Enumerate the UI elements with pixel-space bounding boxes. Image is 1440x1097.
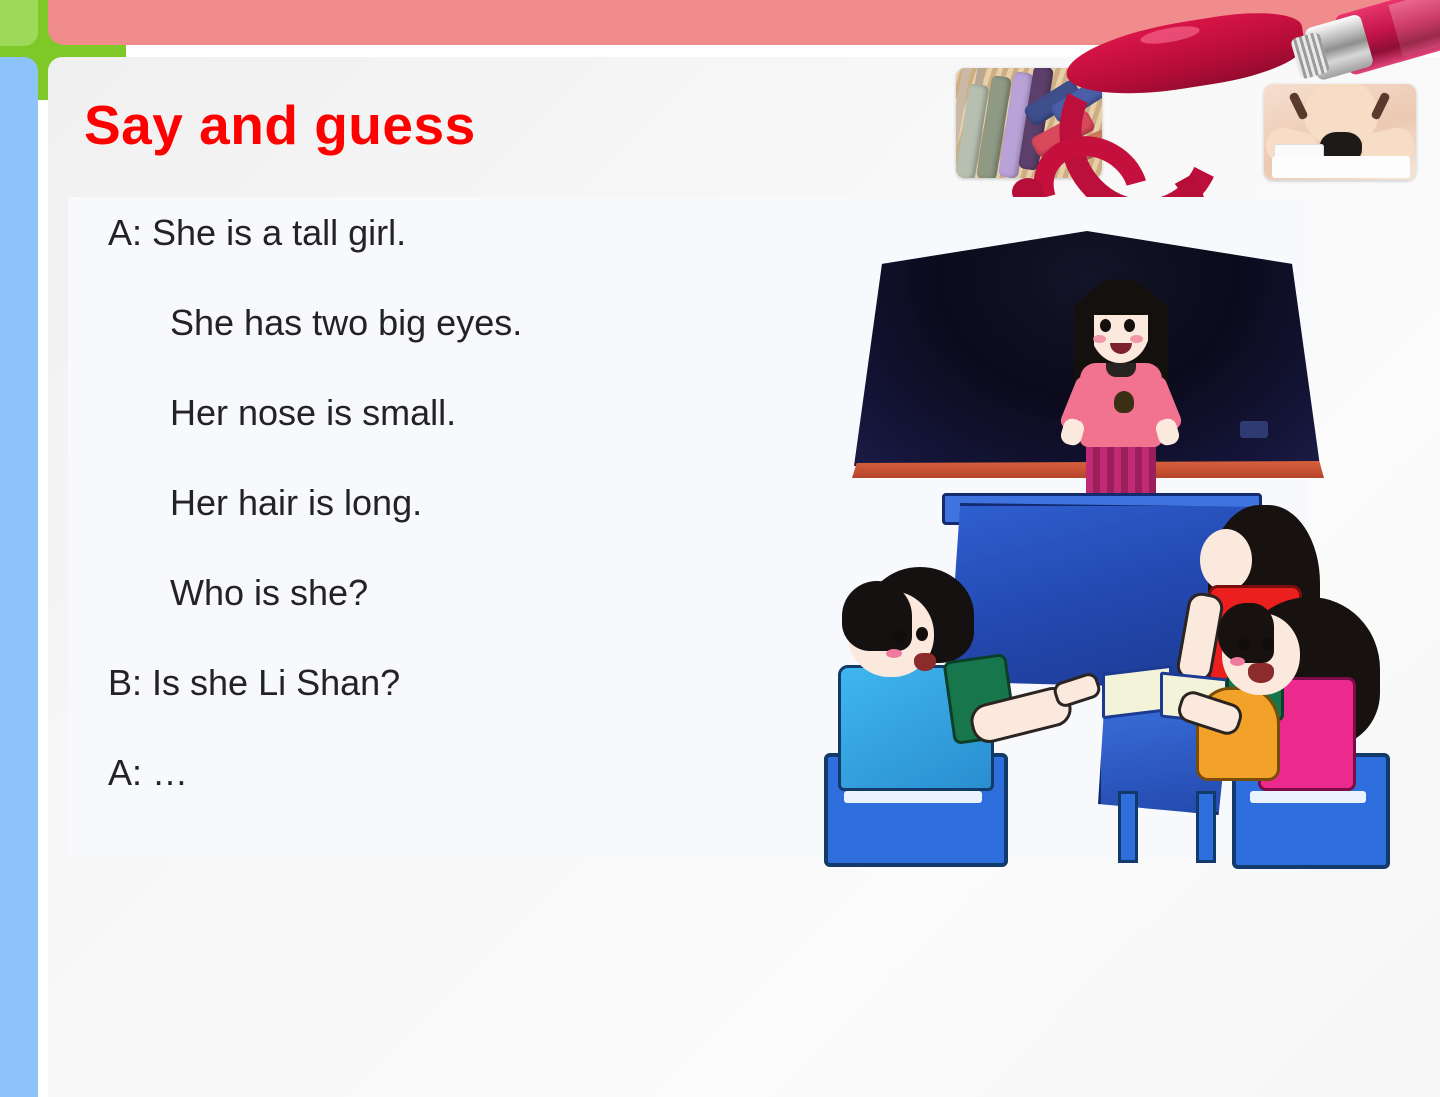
desk-leg (1196, 791, 1216, 863)
desk-leg (1118, 791, 1138, 863)
dialogue-line: Who is she? (108, 575, 748, 611)
dialogue-line: Her nose is small. (108, 395, 748, 431)
corner-tab-green (0, 0, 38, 46)
dialogue-line: A: … (108, 755, 748, 791)
chalk-eraser-icon (1240, 421, 1268, 438)
dialogue-card: A: She is a tall girl. She has two big e… (68, 197, 1308, 857)
classroom-scene (830, 225, 1350, 825)
slide: Say and guess A: She is a tall girl. She… (0, 0, 1440, 1080)
dialogue-line: She has two big eyes. (108, 305, 748, 341)
girl-at-blackboard (1062, 279, 1180, 515)
dialogue-line: B: Is she Li Shan? (108, 665, 748, 701)
page-title: Say and guess (84, 98, 476, 153)
dialogue-list: A: She is a tall girl. She has two big e… (108, 215, 748, 845)
dialogue-line: A: She is a tall girl. (108, 215, 748, 251)
dialogue-line: Her hair is long. (108, 485, 748, 521)
sidebar-bar-blue (0, 57, 38, 1097)
